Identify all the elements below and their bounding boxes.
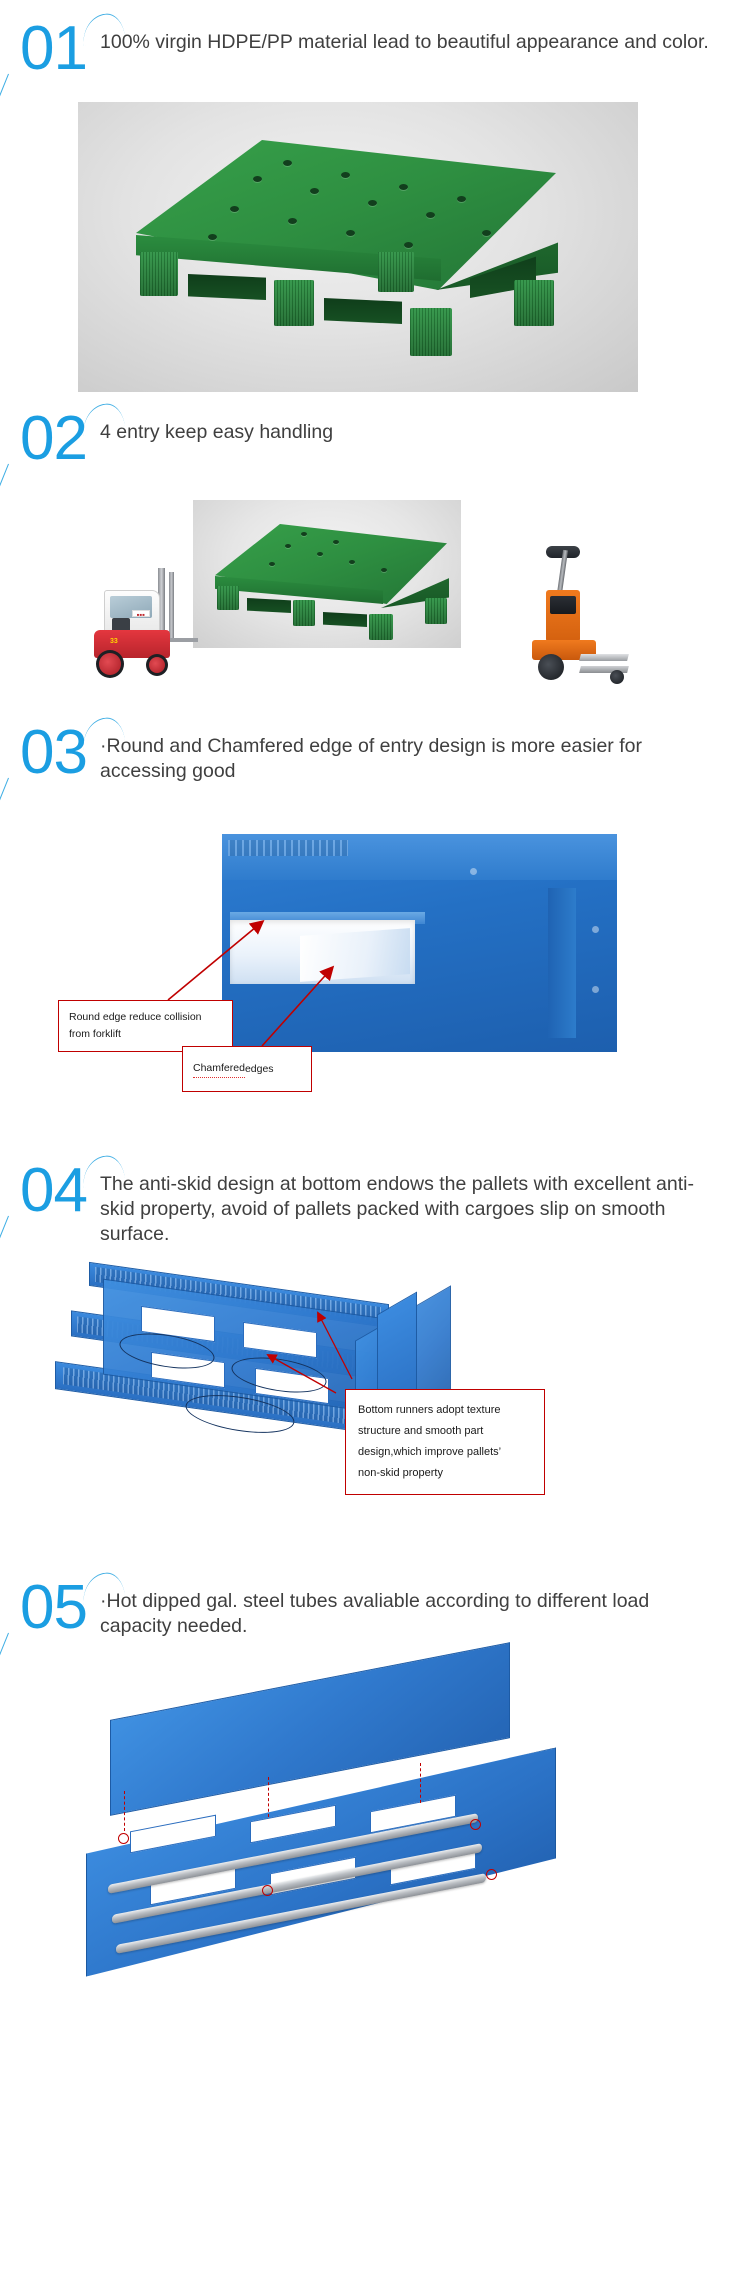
feature-number-wrap-05: 05: [0, 1577, 100, 1651]
callout-ring: [118, 1833, 129, 1844]
decorative-slash-icon: [0, 464, 9, 496]
annotation-bottom-runners-line1: Bottom runners adopt texture: [358, 1400, 532, 1421]
pallet-foot: [514, 280, 554, 326]
deck-hole: [341, 172, 350, 178]
decorative-slash-icon: [0, 74, 9, 106]
feature-text-05: ·Hot dipped gal. steel tubes avaliable a…: [100, 1577, 750, 1639]
green-pallet-inset-photo: [193, 500, 461, 648]
forklift-brand-badge: ■■■: [132, 610, 150, 617]
surface-dot: [470, 868, 477, 875]
pallet-foot: [274, 280, 314, 326]
feature-image-02: ■■■ 33: [0, 500, 750, 700]
feature-heading-03: 03 ·Round and Chamfered edge of entry de…: [0, 722, 750, 796]
anti-skid-bottom-illustration: Bottom runners adopt texture structure a…: [0, 1267, 750, 1567]
pallet-entry-opening: [324, 298, 402, 324]
pallet-foot: [293, 600, 315, 626]
blue-pallet-chamfer-photo: Round edge reduce collision from forklif…: [0, 834, 750, 1134]
forklift-rear-wheel: [146, 654, 168, 676]
callout-leader: [268, 1777, 269, 1817]
steel-tube-reinforced-illustration: [0, 1673, 750, 1983]
pallet-foot: [140, 252, 178, 296]
feature-heading-02: 02 4 entry keep easy handling: [0, 408, 750, 482]
deck-hole: [333, 540, 339, 544]
chamfered-edge-highlight: [300, 928, 410, 982]
deck-hole: [208, 234, 217, 240]
forklift-pallet-truck-photo: ■■■ 33: [78, 500, 638, 700]
feature-number-04: 04: [20, 1160, 87, 1222]
callout-ring: [470, 1819, 481, 1830]
feature-number-wrap-02: 02: [0, 408, 100, 482]
green-pallet-photo: [78, 102, 638, 392]
feature-number-wrap-01: 01: [0, 18, 100, 92]
deck-hole: [404, 242, 413, 248]
feature-heading-04: 04 The anti-skid design at bottom endows…: [0, 1160, 750, 1247]
annotation-round-edge-line2: from forklift: [69, 1026, 222, 1043]
annotation-bottom-runners-line4: non-skid property: [358, 1463, 532, 1484]
pallet-truck-fork: [579, 654, 629, 661]
deck-hole: [269, 562, 275, 566]
feature-text-01: 100% virgin HDPE/PP material lead to bea…: [100, 18, 750, 55]
feature-image-04: Bottom runners adopt texture structure a…: [0, 1267, 750, 1567]
deck-hole: [283, 160, 292, 166]
feature-heading-05: 05 ·Hot dipped gal. steel tubes avaliabl…: [0, 1577, 750, 1651]
pallet-truck-load-wheel: [610, 670, 624, 684]
forklift-brand-text: ■■■: [133, 611, 149, 618]
pallet-truck-drive-wheel: [538, 654, 564, 680]
pallet-truck-control-panel: [550, 596, 576, 614]
callout-leader: [124, 1791, 125, 1831]
forklift-load-number: 33: [110, 638, 118, 645]
pallet-vertical-rib: [548, 888, 576, 1038]
pallet-entry-opening: [247, 598, 291, 613]
feature-number-wrap-04: 04: [0, 1160, 100, 1234]
product-feature-page: 01 100% virgin HDPE/PP material lead to …: [0, 18, 750, 1983]
feature-image-03: Round edge reduce collision from forklif…: [0, 834, 750, 1134]
pallet-entry-opening: [323, 612, 367, 627]
feature-number-01: 01: [20, 18, 87, 80]
annotation-round-edge: Round edge reduce collision from forklif…: [58, 1000, 233, 1052]
annotation-chamfered-edges: Chamfered edges: [182, 1046, 312, 1092]
deck-hole: [381, 568, 387, 572]
callout-ring: [262, 1885, 273, 1896]
deck-hole: [301, 532, 307, 536]
pallet-foot: [217, 586, 239, 610]
forklift-illustration: ■■■ 33: [88, 568, 208, 688]
deck-hole: [482, 230, 491, 236]
decorative-slash-icon: [0, 1216, 9, 1248]
pallet-truck-illustration: [524, 550, 632, 690]
feature-number-05: 05: [20, 1577, 87, 1639]
deck-hole: [426, 212, 435, 218]
pallet-entry-opening: [188, 274, 266, 300]
feature-text-04: The anti-skid design at bottom endows th…: [100, 1160, 750, 1247]
forklift-mast-inner: [169, 572, 174, 642]
annotation-bottom-runners: Bottom runners adopt texture structure a…: [345, 1389, 545, 1495]
deck-hole: [317, 552, 323, 556]
deck-hole: [253, 176, 262, 182]
feature-text-03: ·Round and Chamfered edge of entry desig…: [100, 722, 750, 784]
deck-hole: [310, 188, 319, 194]
decorative-slash-icon: [0, 778, 9, 810]
callout-leader: [420, 1763, 421, 1803]
decorative-slash-icon: [0, 1633, 9, 1665]
pallet-foot: [410, 308, 452, 356]
deck-hole: [285, 544, 291, 548]
deck-hole: [230, 206, 239, 212]
feature-heading-01: 01 100% virgin HDPE/PP material lead to …: [0, 18, 750, 92]
annotation-chamfered-word: Chamfered: [193, 1060, 245, 1078]
forklift-front-wheel: [96, 650, 124, 678]
deck-hole: [457, 196, 466, 202]
deck-hole: [399, 184, 408, 190]
annotation-chamfered-rest: edges: [245, 1061, 274, 1078]
pallet-rib-detail: [228, 840, 348, 856]
feature-number-wrap-03: 03: [0, 722, 100, 796]
feature-number-03: 03: [20, 722, 87, 784]
deck-hole: [288, 218, 297, 224]
pallet-foot: [378, 252, 414, 292]
annotation-bottom-runners-line2: structure and smooth part: [358, 1421, 532, 1442]
deck-hole: [368, 200, 377, 206]
feature-number-02: 02: [20, 408, 87, 470]
feature-image-01: [0, 102, 750, 392]
feature-text-02: 4 entry keep easy handling: [100, 408, 750, 445]
callout-ring: [486, 1869, 497, 1880]
annotation-bottom-runners-line3: design,which improve pallets’: [358, 1442, 532, 1463]
surface-dot: [592, 986, 599, 993]
deck-hole: [349, 560, 355, 564]
annotation-round-edge-line1: Round edge reduce collision: [69, 1009, 222, 1026]
pallet-foot: [425, 598, 447, 624]
pallet-foot: [369, 614, 393, 640]
surface-dot: [592, 926, 599, 933]
deck-hole: [346, 230, 355, 236]
feature-image-05: [0, 1673, 750, 1983]
